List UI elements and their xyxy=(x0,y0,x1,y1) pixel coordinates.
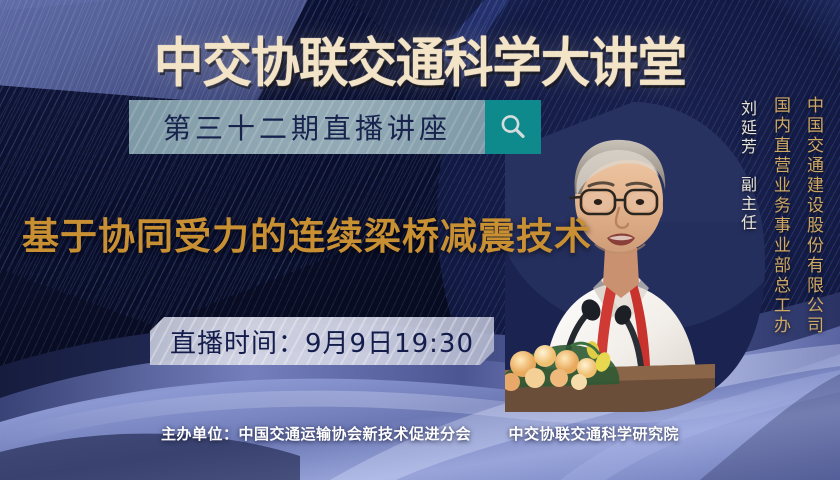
speaker-name-title: 刘延芳 副主任 xyxy=(735,100,759,233)
footer-host: 主办单位：中国交通运输协会新技术促进分会 xyxy=(161,425,471,443)
footer-organizers: 主办单位：中国交通运输协会新技术促进分会 中交协联交通科学研究院 xyxy=(0,423,840,444)
episode-label: 第三十二期直播讲座 xyxy=(163,107,451,147)
live-time-banner: 直播时间：9月9日19:30 xyxy=(150,317,494,365)
speaker-department: 国内直营业务事业部总工办 xyxy=(768,96,793,336)
speaker-name: 刘延芳 xyxy=(738,100,757,157)
speaker-title: 副主任 xyxy=(738,176,757,233)
page-title: 中交协联交通科学大讲堂 xyxy=(29,21,810,97)
footer-institute: 中交协联交通科学研究院 xyxy=(508,425,679,443)
poster-canvas: 中交协联交通科学大讲堂 第三十二期直播讲座 基于协同受力的连续梁桥减震技术 直播… xyxy=(0,0,840,480)
lecture-title: 基于协同受力的连续梁桥减震技术 xyxy=(22,206,592,260)
speaker-name-spacer xyxy=(738,157,757,176)
speaker-organization: 中国交通建设股份有限公司 xyxy=(801,96,826,336)
episode-bar: 第三十二期直播讲座 xyxy=(129,100,541,154)
live-time-label: 直播时间：9月9日19:30 xyxy=(170,323,474,360)
search-icon[interactable] xyxy=(485,100,541,154)
episode-bar-body: 第三十二期直播讲座 xyxy=(129,100,485,154)
